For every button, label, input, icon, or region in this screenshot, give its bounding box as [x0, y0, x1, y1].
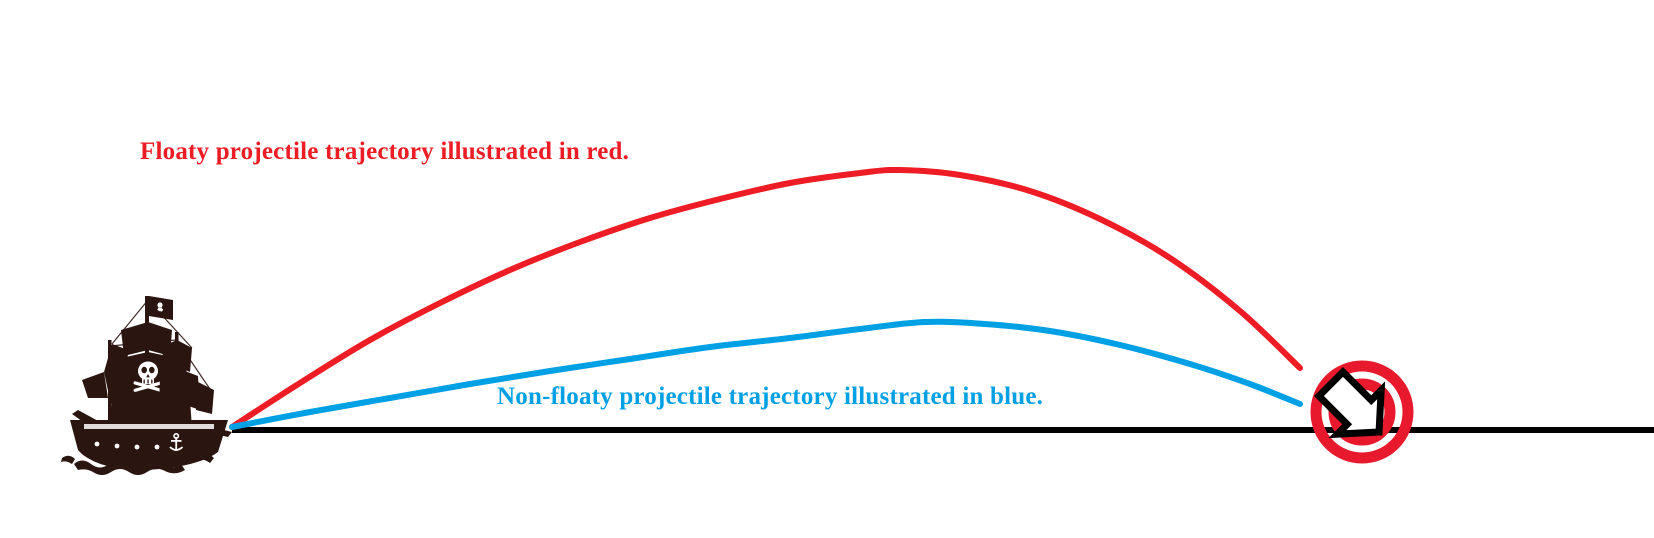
- blue-trajectory-label: Non-floaty projectile trajectory illustr…: [497, 383, 1043, 411]
- scene-canvas: [0, 0, 1654, 538]
- ship-fore-jib: [82, 372, 108, 398]
- ship-mizzen-jib: [196, 382, 214, 414]
- jolly-roger-flag: [149, 296, 173, 320]
- ship-fore-sail: [104, 344, 128, 400]
- blue-trajectory-curve: [232, 322, 1300, 427]
- ship-deck-rail: [84, 424, 214, 429]
- pirate-ship: [61, 296, 232, 475]
- bullseye-target: [1309, 362, 1408, 458]
- red-trajectory-label: Floaty projectile trajectory illustrated…: [140, 138, 629, 166]
- projectile-trajectory-illustration: Floaty projectile trajectory illustrated…: [0, 0, 1654, 538]
